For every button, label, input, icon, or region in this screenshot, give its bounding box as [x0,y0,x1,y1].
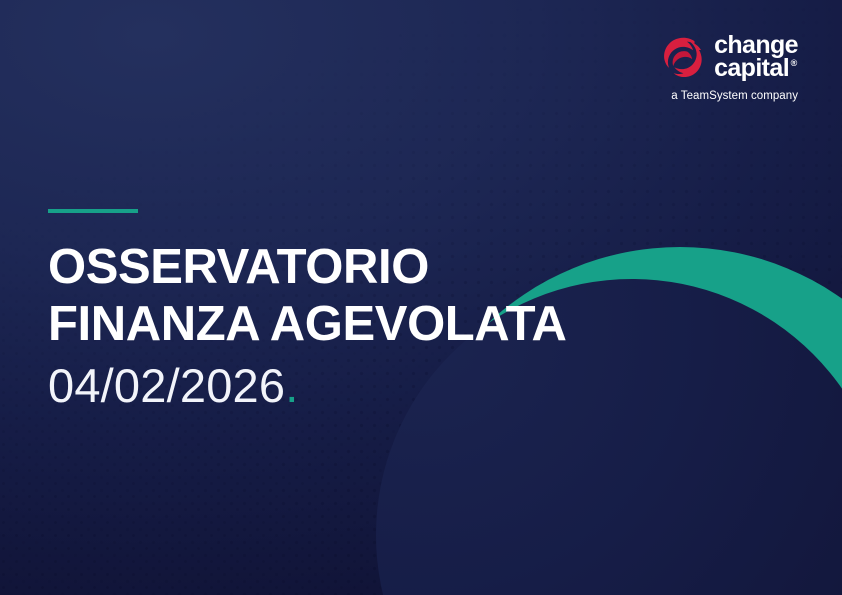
logo-lockup: change capital ® [661,34,798,81]
teal-accent-rule [48,209,138,213]
presentation-title-slide: change capital ® a TeamSystem company OS… [0,0,842,595]
page-title-line2: FINANZA AGEVOLATA [48,296,567,353]
presentation-date-text: 04/02/2026 [48,359,285,412]
logo-tagline: a TeamSystem company [671,90,798,102]
page-title-line1: OSSERVATORIO [48,239,567,296]
title-block: OSSERVATORIO FINANZA AGEVOLATA 04/02/202… [48,209,567,411]
registered-trademark-icon: ® [791,59,797,68]
change-capital-swirl-icon [661,34,705,80]
logo-word-capital: capital ® [714,57,798,80]
presentation-date: 04/02/2026. [48,360,567,412]
brand-logo: change capital ® a TeamSystem company [661,34,798,102]
logo-word-capital-text: capital [714,57,789,80]
teal-period-accent: . [285,359,298,412]
logo-wordmark: change capital ® [714,34,798,81]
